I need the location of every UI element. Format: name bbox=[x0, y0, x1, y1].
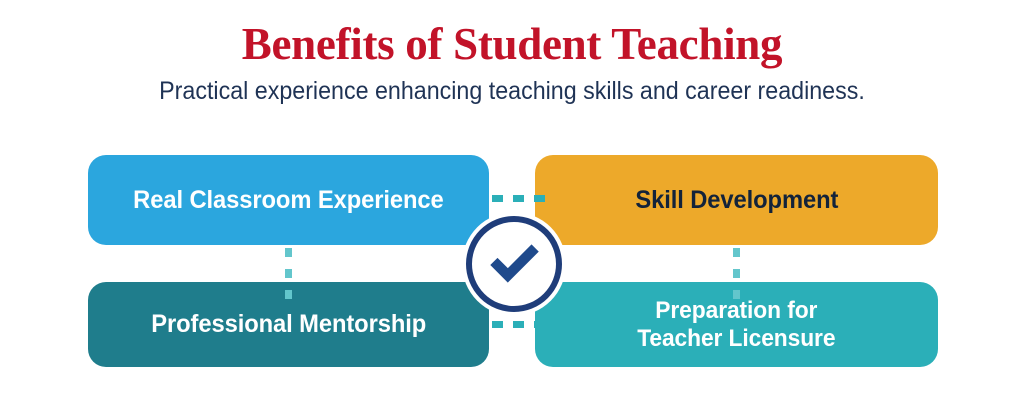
connector-left-vertical bbox=[285, 248, 292, 299]
dash-icon bbox=[733, 290, 740, 299]
dash-icon bbox=[513, 195, 524, 202]
benefit-node-label-line1: Preparation for bbox=[655, 297, 817, 324]
benefit-node-label-wrap: Preparation for Teacher Licensure bbox=[637, 297, 835, 353]
dash-icon bbox=[733, 269, 740, 278]
dash-icon bbox=[733, 248, 740, 257]
benefit-node-label: Skill Development bbox=[635, 186, 838, 215]
benefits-diagram: Real Classroom Experience Skill Developm… bbox=[0, 0, 1024, 415]
dash-icon bbox=[492, 195, 503, 202]
benefit-node-skill-development[interactable]: Skill Development bbox=[535, 155, 938, 245]
dash-icon bbox=[534, 321, 545, 328]
dash-icon bbox=[285, 269, 292, 278]
center-check-badge bbox=[462, 212, 566, 316]
benefit-node-label-line2: Teacher Licensure bbox=[637, 325, 835, 352]
dash-icon bbox=[513, 321, 524, 328]
connector-top-horizontal bbox=[492, 195, 545, 202]
dash-icon bbox=[285, 290, 292, 299]
connector-right-vertical bbox=[733, 248, 740, 299]
checkmark-icon bbox=[481, 231, 547, 297]
benefit-node-label: Real Classroom Experience bbox=[133, 186, 443, 215]
connector-bottom-horizontal bbox=[492, 321, 545, 328]
benefit-node-label: Professional Mentorship bbox=[151, 310, 426, 339]
dash-icon bbox=[285, 248, 292, 257]
dash-icon bbox=[534, 195, 545, 202]
dash-icon bbox=[492, 321, 503, 328]
benefit-node-real-classroom[interactable]: Real Classroom Experience bbox=[88, 155, 489, 245]
